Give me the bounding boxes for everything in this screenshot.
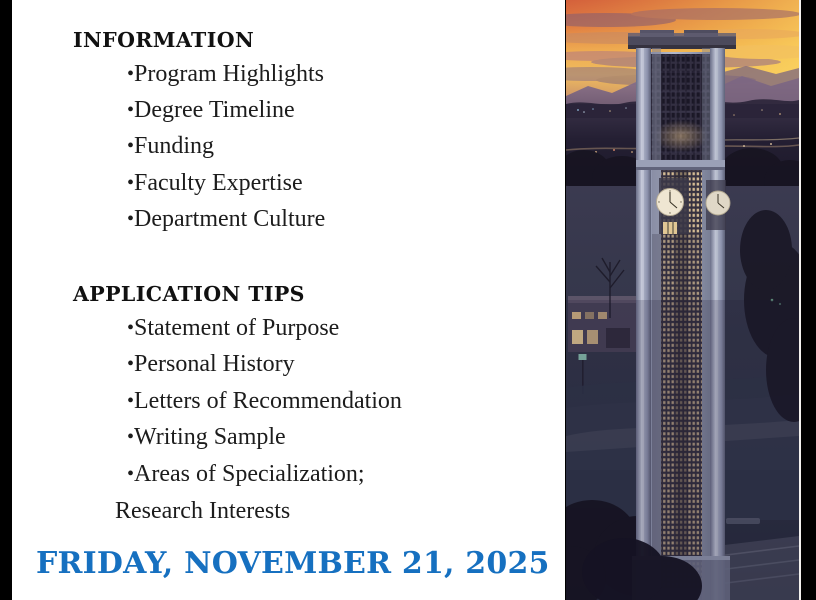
- content-panel: INFORMATION •Program Highlights •Degree …: [12, 0, 565, 600]
- list-item-wrap-line: Research Interests: [115, 493, 565, 530]
- list-item-label: Program Highlights: [134, 61, 324, 87]
- bullet-list-application-tips: •Statement of Purpose •Personal History …: [12, 310, 565, 530]
- list-item: •Writing Sample: [12, 419, 565, 456]
- list-item-label: Letters of Recommendation: [134, 388, 402, 414]
- list-item-label: Degree Timeline: [134, 97, 295, 123]
- event-date: FRIDAY, NOVEMBER 21, 2025: [36, 546, 550, 581]
- bullet-point-icon: •: [127, 63, 134, 85]
- section-heading-information: INFORMATION: [73, 28, 565, 54]
- list-item-label: Areas of Specialization;: [134, 461, 365, 487]
- list-item: •Statement of Purpose: [12, 310, 565, 347]
- list-item-label: Funding: [134, 133, 214, 159]
- section-information: INFORMATION •Program Highlights •Degree …: [12, 28, 565, 238]
- bell-tower-photo: [566, 0, 799, 600]
- right-black-border: [801, 0, 816, 600]
- list-item: •Degree Timeline: [12, 92, 565, 128]
- list-item-label: Writing Sample: [134, 424, 286, 450]
- bullet-list-information: •Program Highlights •Degree Timeline •Fu…: [12, 56, 565, 238]
- list-item: •Program Highlights: [12, 56, 565, 92]
- bell-tower-photo-illustration: [566, 0, 799, 600]
- bullet-point-icon: •: [127, 463, 134, 485]
- slide-canvas: INFORMATION •Program Highlights •Degree …: [0, 0, 816, 600]
- list-item-label: Department Culture: [134, 206, 325, 232]
- list-item: •Funding: [12, 128, 565, 164]
- list-item-label: Personal History: [134, 351, 295, 377]
- list-item-label: Faculty Expertise: [134, 170, 303, 196]
- section-application-tips: APPLICATION TIPS •Statement of Purpose •…: [12, 282, 565, 529]
- list-item: •Personal History: [12, 346, 565, 383]
- bullet-point-icon: •: [127, 135, 134, 157]
- bullet-point-icon: •: [127, 172, 134, 194]
- left-black-border: [0, 0, 12, 600]
- bullet-point-icon: •: [127, 99, 134, 121]
- section-heading-application-tips: APPLICATION TIPS: [73, 282, 565, 308]
- list-item-label: Statement of Purpose: [134, 315, 339, 341]
- bullet-point-icon: •: [127, 208, 134, 230]
- list-item: •Letters of Recommendation: [12, 383, 565, 420]
- list-item: •Faculty Expertise: [12, 165, 565, 201]
- date-banner: FRIDAY, NOVEMBER 21, 2025: [24, 540, 577, 598]
- bullet-point-icon: •: [127, 426, 134, 448]
- bullet-point-icon: •: [127, 317, 134, 339]
- bullet-point-icon: •: [127, 390, 134, 412]
- list-item: •Department Culture: [12, 201, 565, 237]
- bullet-point-icon: •: [127, 353, 134, 375]
- list-item: •Areas of Specialization;Research Intere…: [12, 456, 565, 529]
